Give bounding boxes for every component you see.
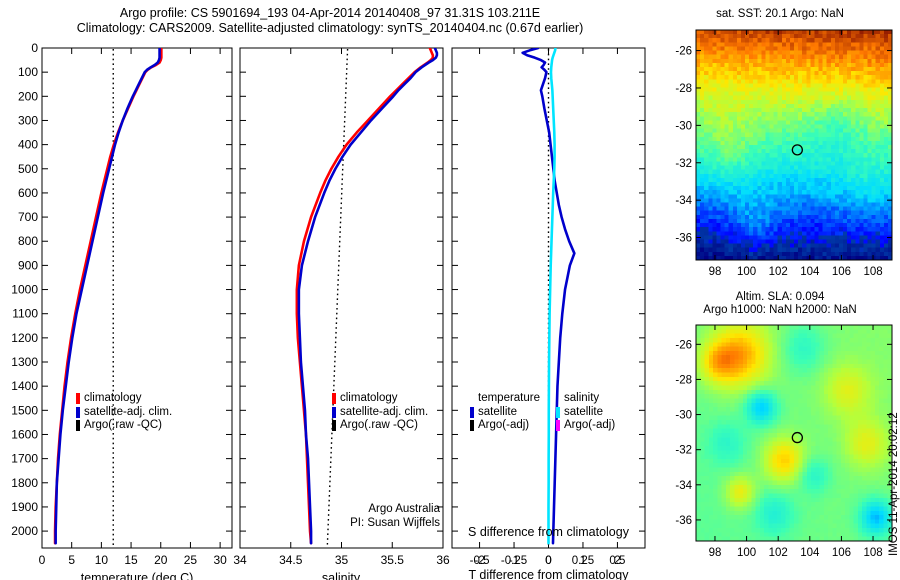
map-cell (790, 364, 795, 369)
map-cell (770, 157, 775, 162)
map-cell (790, 108, 795, 113)
map-cell (851, 59, 856, 64)
map-cell (880, 108, 885, 113)
map-cell (884, 239, 889, 244)
map-cell (716, 55, 721, 60)
map-cell (761, 153, 766, 158)
map-cell (745, 116, 750, 121)
map-cell (733, 244, 738, 249)
map-cell (745, 231, 750, 236)
map-cell (863, 112, 868, 117)
map-cell (743, 368, 748, 373)
map-cell (811, 381, 816, 386)
map-cell (854, 347, 859, 352)
map-cell (814, 100, 819, 105)
map-cell (815, 424, 820, 429)
map-cell (839, 120, 844, 125)
map-cell (798, 112, 803, 117)
map-cell (765, 133, 770, 138)
map-cell (832, 450, 837, 455)
map-cell (798, 342, 803, 347)
x-tick-label: 10 (95, 553, 109, 567)
map-cell (734, 355, 739, 360)
map-cell (785, 351, 790, 356)
map-cell (879, 355, 884, 360)
map-cell (807, 429, 812, 434)
map-cell (851, 141, 856, 146)
map-cell (851, 46, 856, 51)
map-cell (765, 223, 770, 228)
map-cell (790, 157, 795, 162)
map-cell (835, 129, 840, 134)
map-cell (696, 211, 701, 216)
map-cell (794, 481, 799, 486)
map-cell (757, 46, 762, 51)
map-cell (726, 394, 731, 399)
map-cell (837, 360, 842, 365)
map-cell (879, 411, 884, 416)
map-cell (806, 239, 811, 244)
map-cell (876, 71, 881, 76)
map-cell (839, 133, 844, 138)
map-cell (761, 141, 766, 146)
map-cell (810, 231, 815, 236)
map-cell (782, 182, 787, 187)
map-cell (704, 170, 709, 175)
map-cell (858, 394, 863, 399)
map-cell (709, 364, 714, 369)
map-cell (717, 429, 722, 434)
map-cell (871, 511, 876, 516)
map-cell (876, 116, 881, 121)
map-cell (875, 502, 880, 507)
map-cell (845, 368, 850, 373)
map-cell (705, 368, 710, 373)
map-cell (843, 46, 848, 51)
map-cell (741, 79, 746, 84)
map-cell (733, 157, 738, 162)
map-cell (743, 398, 748, 403)
map-cell (790, 442, 795, 447)
map-cell (753, 153, 758, 158)
map-cell (849, 342, 854, 347)
map-cell (712, 244, 717, 249)
map-cell (773, 329, 778, 334)
map-cell (737, 141, 742, 146)
map-cell (734, 433, 739, 438)
map-cell (823, 211, 828, 216)
map-cell (814, 51, 819, 56)
map-cell (700, 59, 705, 64)
map-cell (824, 416, 829, 421)
map-cell (831, 104, 836, 109)
map-cell (863, 231, 868, 236)
map-cell (843, 211, 848, 216)
map-cell (806, 244, 811, 249)
map-cell (847, 129, 852, 134)
map-cell (778, 211, 783, 216)
map-cell (794, 325, 799, 330)
map-cell (871, 329, 876, 334)
map-cell (725, 198, 730, 203)
map-cell (807, 368, 812, 373)
map-cell (770, 215, 775, 220)
map-cell (786, 92, 791, 97)
map-cell (802, 252, 807, 257)
map-cell (798, 424, 803, 429)
map-cell (713, 351, 718, 356)
map-cell (884, 55, 889, 60)
map-cell (855, 137, 860, 142)
map-cell (824, 364, 829, 369)
map-cell (871, 351, 876, 356)
map-cell (872, 96, 877, 101)
map-cell (798, 203, 803, 208)
map-cell (757, 141, 762, 146)
map-cell (786, 104, 791, 109)
map-cell (768, 459, 773, 464)
map-cell (811, 424, 816, 429)
map-cell (824, 394, 829, 399)
map-cell (843, 79, 848, 84)
map-cell (868, 223, 873, 228)
map-cell (880, 207, 885, 212)
map-cell (794, 124, 799, 129)
map-cell (764, 450, 769, 455)
map-cell (824, 355, 829, 360)
map-cell (790, 116, 795, 121)
map-cell (765, 112, 770, 117)
map-cell (786, 231, 791, 236)
map-cell (879, 506, 884, 511)
map-cell (794, 459, 799, 464)
map-cell (790, 59, 795, 64)
map-cell (700, 194, 705, 199)
map-cell (868, 174, 873, 179)
map-cell (717, 334, 722, 339)
sla-map-title-line1: Altim. SLA: 0.094 (660, 291, 900, 304)
map-cell (794, 186, 799, 191)
map-cell (794, 476, 799, 481)
map-cell (717, 455, 722, 460)
map-cell (705, 390, 710, 395)
map-cell (803, 411, 808, 416)
map-cell (764, 373, 769, 378)
map-cell (751, 493, 756, 498)
map-cell (700, 329, 705, 334)
map-cell (832, 446, 837, 451)
map-cell (704, 116, 709, 121)
map-cell (757, 161, 762, 166)
map-cell (855, 186, 860, 191)
map-cell (824, 511, 829, 516)
map-cell (765, 211, 770, 216)
map-cell (757, 170, 762, 175)
map-cell (807, 338, 812, 343)
map-cell (737, 112, 742, 117)
map-cell (855, 235, 860, 240)
map-cell (824, 368, 829, 373)
map-cell (704, 235, 709, 240)
map-cell (832, 511, 837, 516)
map-cell (884, 59, 889, 64)
map-cell (855, 59, 860, 64)
map-cell (709, 325, 714, 330)
map-cell (839, 75, 844, 80)
map-cell (815, 463, 820, 468)
y-tick-label: 200 (18, 89, 38, 103)
map-cell (704, 108, 709, 113)
map-cell (734, 403, 739, 408)
map-cell (835, 227, 840, 232)
map-cell (725, 79, 730, 84)
map-cell (730, 498, 735, 503)
map-cell (843, 67, 848, 72)
map-cell (849, 502, 854, 507)
map-cell (832, 347, 837, 352)
map-cell (756, 325, 761, 330)
map-cell (733, 67, 738, 72)
map-cell (737, 137, 742, 142)
map-cell (712, 223, 717, 228)
map-cell (770, 235, 775, 240)
map-cell (879, 416, 884, 421)
map-cell (760, 338, 765, 343)
map-cell (866, 325, 871, 330)
map-cell (770, 129, 775, 134)
map-cell (807, 407, 812, 412)
map-cell (849, 334, 854, 339)
map-cell (751, 394, 756, 399)
map-cell (733, 227, 738, 232)
map-cell (765, 108, 770, 113)
map-cell (790, 472, 795, 477)
map-cell (765, 38, 770, 43)
map-cell (815, 373, 820, 378)
map-cell (828, 381, 833, 386)
map-cell (845, 472, 850, 477)
map-cell (713, 468, 718, 473)
map-cell (798, 157, 803, 162)
map-cell (794, 133, 799, 138)
map-cell (790, 79, 795, 84)
map-cell (884, 137, 889, 142)
map-cell (709, 446, 714, 451)
map-cell (773, 351, 778, 356)
map-cell (859, 129, 864, 134)
map-cell (712, 55, 717, 60)
map-cell (868, 83, 873, 88)
map-cell (704, 133, 709, 138)
map-cell (794, 468, 799, 473)
map-cell (875, 420, 880, 425)
map-cell (871, 381, 876, 386)
map-cell (716, 145, 721, 150)
map-cell (757, 71, 762, 76)
map-cell (839, 63, 844, 68)
map-cell (811, 437, 816, 442)
map-cell (863, 161, 868, 166)
map-cell (696, 248, 701, 253)
x-tick-label-secondary: 0 (545, 555, 551, 567)
map-cell (739, 429, 744, 434)
map-cell (815, 347, 820, 352)
map-cell (726, 437, 731, 442)
map-cell (880, 231, 885, 236)
map-cell (734, 342, 739, 347)
map-cell (761, 30, 766, 35)
map-cell (872, 223, 877, 228)
map-cell (725, 129, 730, 134)
map-cell (819, 227, 824, 232)
map-cell (726, 424, 731, 429)
map-cell (717, 360, 722, 365)
map-cell (847, 186, 852, 191)
map-cell (708, 161, 713, 166)
map-cell (876, 211, 881, 216)
map-cell (705, 511, 710, 516)
map-cell (757, 67, 762, 72)
map-cell (751, 364, 756, 369)
map-cell (712, 145, 717, 150)
map-cell (851, 100, 856, 105)
map-cell (811, 355, 816, 360)
map-cell (725, 55, 730, 60)
map-cell (858, 442, 863, 447)
map-cell (786, 88, 791, 93)
map-cell (863, 141, 868, 146)
map-cell (696, 194, 701, 199)
map-cell (843, 223, 848, 228)
map-cell (757, 239, 762, 244)
map-cell (790, 124, 795, 129)
map-cell (741, 120, 746, 125)
map-cell (835, 203, 840, 208)
map-cell (810, 42, 815, 47)
map-cell (814, 120, 819, 125)
map-cell (716, 51, 721, 56)
map-cell (756, 342, 761, 347)
map-cell (847, 219, 852, 224)
map-cell (704, 198, 709, 203)
map-cell (879, 437, 884, 442)
map-cell (716, 83, 721, 88)
map-cell (815, 407, 820, 412)
map-cell (811, 360, 816, 365)
map-cell (716, 120, 721, 125)
map-cell (713, 334, 718, 339)
map-cell (729, 63, 734, 68)
map-cell (761, 149, 766, 154)
map-cell (708, 194, 713, 199)
map-cell (705, 433, 710, 438)
map-cell (749, 145, 754, 150)
map-cell (729, 194, 734, 199)
map-cell (862, 325, 867, 330)
map-cell (868, 129, 873, 134)
map-cell (708, 67, 713, 72)
map-cell (712, 59, 717, 64)
map-cell (770, 30, 775, 35)
map-cell (778, 96, 783, 101)
svg-temp-frame (42, 48, 232, 548)
x-tick-label-secondary: -0.25 (501, 555, 527, 567)
map-cell (879, 493, 884, 498)
map-cell (765, 34, 770, 39)
map-cell (743, 373, 748, 378)
map-cell (700, 227, 705, 232)
map-cell (781, 502, 786, 507)
map-cell (847, 235, 852, 240)
map-cell (709, 442, 714, 447)
map-cell (712, 63, 717, 68)
map-cell (760, 424, 765, 429)
map-cell (781, 433, 786, 438)
map-cell (837, 498, 842, 503)
map-cell (782, 252, 787, 257)
map-cell (880, 219, 885, 224)
map-cell (733, 63, 738, 68)
map-cell (786, 108, 791, 113)
map-cell (696, 442, 701, 447)
map-cell (802, 59, 807, 64)
map-cell (806, 116, 811, 121)
map-cell (876, 51, 881, 56)
map-cell (803, 420, 808, 425)
map-cell (820, 416, 825, 421)
map-cell (847, 252, 852, 257)
map-cell (790, 506, 795, 511)
map-cell (845, 437, 850, 442)
map-cell (764, 360, 769, 365)
map-cell (721, 174, 726, 179)
map-cell (749, 153, 754, 158)
map-cell (747, 398, 752, 403)
map-cell (806, 215, 811, 220)
map-cell (872, 92, 877, 97)
map-cell (717, 450, 722, 455)
map-cell (855, 83, 860, 88)
map-cell (741, 129, 746, 134)
map-cell (845, 351, 850, 356)
map-cell (868, 46, 873, 51)
map-cell (843, 133, 848, 138)
map-cell (739, 489, 744, 494)
map-cell (717, 442, 722, 447)
map-cell (815, 502, 820, 507)
map-cell (811, 481, 816, 486)
map-cell (729, 129, 734, 134)
map-cell (875, 407, 880, 412)
map-cell (773, 385, 778, 390)
map-cell (819, 79, 824, 84)
map-cell (696, 463, 701, 468)
map-cell (741, 141, 746, 146)
map-cell (831, 149, 836, 154)
map-cell (722, 390, 727, 395)
map-cell (764, 351, 769, 356)
y-tick-label: 700 (18, 210, 38, 224)
map-cell (705, 468, 710, 473)
map-cell (811, 394, 816, 399)
map-cell (753, 211, 758, 216)
map-cell (871, 437, 876, 442)
map-cell (876, 182, 881, 187)
map-cell (794, 351, 799, 356)
map-cell (872, 116, 877, 121)
map-cell (839, 227, 844, 232)
map-cell (843, 104, 848, 109)
